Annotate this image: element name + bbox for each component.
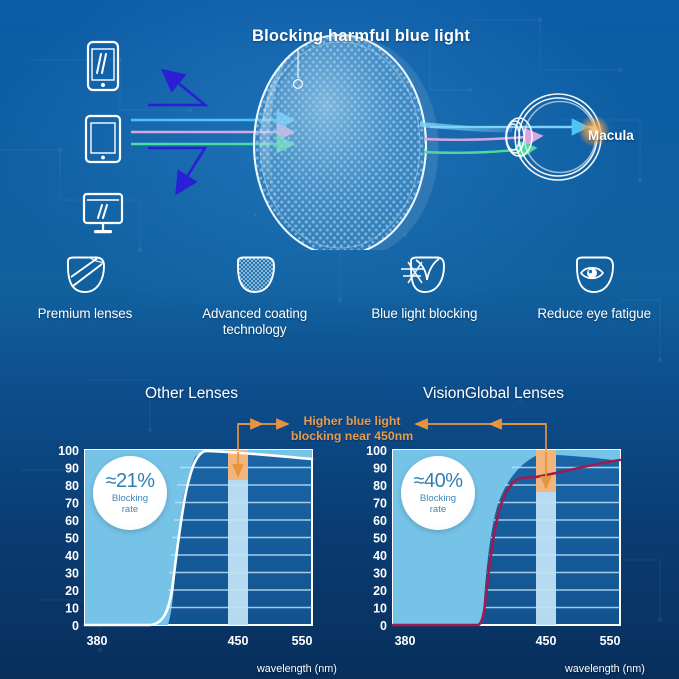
feature-label: Advanced coating technology	[202, 306, 307, 338]
connector-left	[238, 424, 288, 450]
lens-premium-icon	[60, 252, 110, 300]
macula-label: Macula	[588, 128, 634, 143]
feature-advanced-coating: Advanced coating technology	[170, 252, 340, 338]
svg-text:20: 20	[373, 584, 387, 598]
yaxis-left: 1009080 706050 403020 100	[58, 444, 79, 633]
svg-text:80: 80	[65, 479, 79, 493]
xaxis-label-left: wavelength (nm)	[257, 663, 337, 675]
caption-line2: rate	[430, 504, 447, 515]
tablet-icon	[82, 113, 124, 165]
yaxis-right: 1009080 706050 403020 100	[366, 444, 387, 633]
connector-right	[416, 424, 546, 450]
svg-text:70: 70	[373, 497, 387, 511]
feature-reduce-eye-fatigue: Reduce eye fatigue	[509, 252, 679, 322]
blocking-rate-badge-right: ≈40% Blocking rate	[401, 456, 475, 530]
caption-line1: Blocking	[420, 493, 456, 504]
svg-text:20: 20	[65, 584, 79, 598]
svg-text:60: 60	[65, 514, 79, 528]
svg-text:10: 10	[65, 602, 79, 616]
svg-text:90: 90	[65, 462, 79, 476]
svg-text:450: 450	[228, 634, 249, 648]
svg-text:450: 450	[536, 634, 557, 648]
svg-text:70: 70	[65, 497, 79, 511]
blocking-rate-value: ≈40%	[413, 471, 462, 491]
blocking-rate-badge-left: ≈21% Blocking rate	[93, 456, 167, 530]
svg-text:30: 30	[65, 567, 79, 581]
svg-text:30: 30	[373, 567, 387, 581]
xaxis-left: 380450550	[87, 634, 313, 648]
device-icons-group	[82, 40, 128, 259]
charts-svg: 1009080 706050 403020 100 380450550	[0, 372, 679, 679]
svg-text:10: 10	[373, 602, 387, 616]
svg-text:40: 40	[65, 549, 79, 563]
feature-label: Blue light blocking	[371, 306, 477, 322]
xaxis-right: 380450550	[395, 634, 621, 648]
caption-line1: Blocking	[112, 493, 148, 504]
infographic-canvas: Blocking harmful blue light Macula Premi…	[0, 0, 679, 679]
svg-text:0: 0	[72, 619, 79, 633]
svg-text:40: 40	[373, 549, 387, 563]
feature-label: Reduce eye fatigue	[537, 306, 651, 322]
caption-line2: rate	[122, 504, 139, 515]
svg-text:100: 100	[58, 444, 79, 458]
lens-blueblock-icon	[398, 252, 450, 300]
svg-text:0: 0	[380, 619, 387, 633]
feature-label-line1: Advanced coating	[202, 306, 307, 321]
svg-text:60: 60	[373, 514, 387, 528]
svg-text:80: 80	[373, 479, 387, 493]
features-row: Premium lenses A	[0, 252, 679, 352]
blocked-blue-ray-up	[148, 72, 205, 105]
chart-left: 1009080 706050 403020 100 380450550	[58, 444, 312, 648]
hero-illustration: Blocking harmful blue light Macula	[0, 0, 679, 250]
svg-text:550: 550	[292, 634, 313, 648]
svg-text:380: 380	[87, 634, 108, 648]
svg-text:90: 90	[373, 462, 387, 476]
feature-blue-light-blocking: Blue light blocking	[340, 252, 510, 322]
svg-text:50: 50	[65, 532, 79, 546]
blocking-rate-value: ≈21%	[105, 471, 154, 491]
hero-title: Blocking harmful blue light	[252, 27, 482, 46]
svg-text:50: 50	[373, 532, 387, 546]
chart-right: 1009080 706050 403020 100 380450550	[366, 444, 620, 648]
xaxis-label-right: wavelength (nm)	[565, 663, 645, 675]
blocked-blue-ray-down	[148, 148, 205, 191]
feature-premium-lenses: Premium lenses	[0, 252, 170, 322]
monitor-icon	[82, 186, 124, 238]
blocking-rate-caption: Blocking rate	[420, 494, 456, 515]
svg-text:100: 100	[366, 444, 387, 458]
lens-eye-icon	[569, 252, 619, 300]
charts-section: Other Lenses VisionGlobal Lenses Higher …	[0, 372, 679, 679]
blocking-rate-caption: Blocking rate	[112, 494, 148, 515]
feature-label: Premium lenses	[38, 306, 133, 322]
lens-coating-icon	[230, 252, 280, 300]
ray-pink-out	[424, 136, 540, 140]
svg-text:550: 550	[600, 634, 621, 648]
smartphone-icon	[82, 40, 124, 92]
svg-text:380: 380	[395, 634, 416, 648]
feature-label-line2: technology	[223, 322, 287, 337]
